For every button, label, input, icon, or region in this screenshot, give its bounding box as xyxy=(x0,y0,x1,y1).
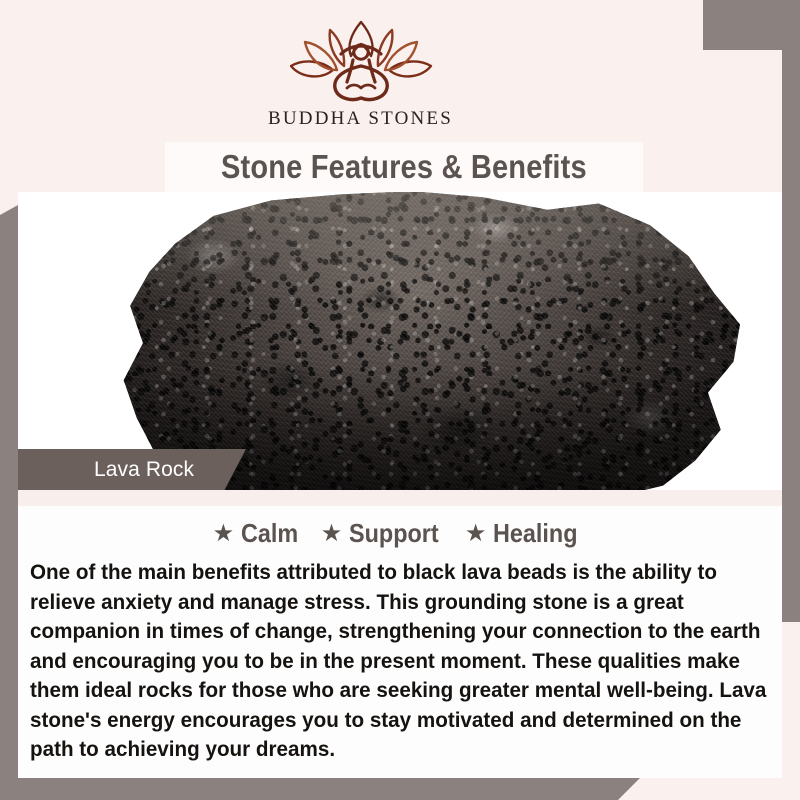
star-icon: ★ xyxy=(465,522,487,546)
hero-image xyxy=(18,192,782,490)
feature-label: Support xyxy=(349,518,439,549)
lava-rock-photo xyxy=(98,192,740,490)
feature-item: ★ Support xyxy=(321,518,449,549)
section-divider xyxy=(18,490,782,506)
lotus-meditation-figure-icon xyxy=(281,18,441,106)
frame-band-bottom xyxy=(0,778,640,800)
title-banner: Stone Features & Benefits xyxy=(165,142,643,192)
infographic-card: BUDDHA STONES Stone Features & Benefits … xyxy=(0,0,800,800)
frame-band-top-right xyxy=(703,0,800,50)
star-icon: ★ xyxy=(213,522,235,546)
feature-label: Calm xyxy=(241,518,298,549)
star-icon: ★ xyxy=(321,522,343,546)
frame-band-right xyxy=(782,50,800,620)
feature-list: ★ Calm ★ Support ★ Healing xyxy=(18,518,782,549)
image-caption-label: Lava Rock xyxy=(18,458,194,482)
brand-logo: BUDDHA STONES xyxy=(18,18,703,130)
feature-item: ★ Calm xyxy=(213,518,305,549)
content-panel: ★ Calm ★ Support ★ Healing One of the ma… xyxy=(18,506,782,778)
feature-item: ★ Healing xyxy=(465,518,587,549)
description-text: One of the main benefits attributed to b… xyxy=(30,558,774,765)
rock-highlight xyxy=(98,192,740,308)
feature-label: Healing xyxy=(493,518,578,549)
page-title: Stone Features & Benefits xyxy=(221,148,587,186)
image-caption: Lava Rock xyxy=(18,449,246,491)
frame-band-left xyxy=(0,205,18,778)
brand-name: BUDDHA STONES xyxy=(18,108,703,130)
